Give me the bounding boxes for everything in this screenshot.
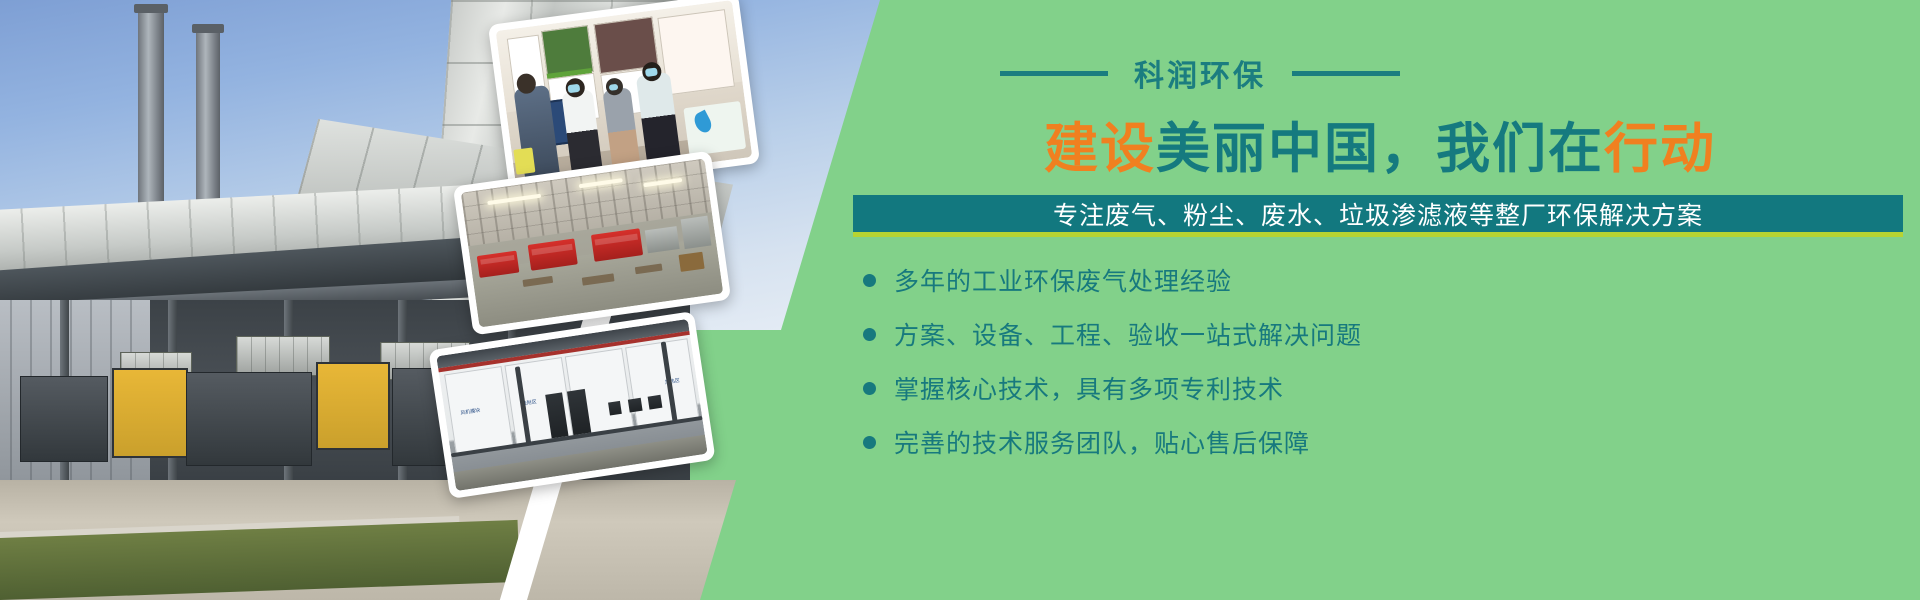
headline-part-4: 行动: [1604, 119, 1716, 179]
list-item-label: 方案、设备、工程、验收一站式解决问题: [894, 316, 1362, 352]
promo-banner: 风机模块 吸附区 加热区 科润环保 建设美丽中国，我们在行动 专注废气、粉尘、废…: [0, 0, 1920, 600]
bullet-dot-icon: [863, 328, 876, 341]
exhaust-stack-cap-2: [192, 24, 224, 33]
gray-machine: [681, 216, 712, 249]
bullet-dot-icon: [863, 382, 876, 395]
subtitle-text: 专注废气、粉尘、废水、垃圾渗滤液等整厂环保解决方案: [1053, 196, 1703, 232]
brand-rule-right: [1292, 71, 1400, 76]
dark-machine: [20, 376, 108, 462]
headline-part-1: 建设: [1044, 119, 1156, 179]
equipment-scene: 风机模块 吸附区 加热区: [436, 319, 707, 491]
face-mask: [645, 67, 658, 76]
equipment-vent: [648, 395, 663, 410]
list-item: 完善的技术服务团队，贴心售后保障: [855, 424, 1895, 460]
list-item: 方案、设备、工程、验收一站式解决问题: [855, 316, 1895, 352]
dark-machine: [186, 372, 312, 466]
water-drop-icon: [692, 109, 715, 134]
bullet-dot-icon: [863, 436, 876, 449]
yellow-machine: [112, 368, 188, 458]
exhaust-stack-cap-1: [134, 4, 168, 13]
subtitle-band: 专注废气、粉尘、废水、垃圾渗滤液等整厂环保解决方案: [853, 195, 1903, 237]
brand-row: 科润环保: [940, 52, 1460, 94]
equipment-vent: [608, 401, 623, 416]
list-item-label: 完善的技术服务团队，贴心售后保障: [894, 424, 1310, 460]
list-item-label: 多年的工业环保废气处理经验: [894, 262, 1232, 298]
company-logo-panel: [684, 101, 747, 155]
list-item: 多年的工业环保废气处理经验: [855, 262, 1895, 298]
headline-part-3: ，我们在: [1380, 119, 1604, 179]
yellow-machine: [316, 362, 390, 450]
bullet-dot-icon: [863, 274, 876, 287]
brand-title: 科润环保: [1134, 51, 1266, 95]
booth-scene: [496, 0, 753, 188]
banner-content: 科润环保 建设美丽中国，我们在行动 专注废气、粉尘、废水、垃圾渗滤液等整厂环保解…: [845, 0, 1920, 600]
headline-part-2: 美丽中国: [1156, 119, 1380, 179]
feature-list: 多年的工业环保废气处理经验 方案、设备、工程、验收一站式解决问题 掌握核心技术，…: [855, 262, 1895, 478]
list-item: 掌握核心技术，具有多项专利技术: [855, 370, 1895, 406]
workshop-scene: [461, 159, 724, 328]
brand-rule-left: [1000, 71, 1108, 76]
headline: 建设美丽中国，我们在行动: [855, 104, 1905, 183]
equipment-vent: [628, 398, 643, 413]
shopping-bag: [514, 147, 536, 175]
list-item-label: 掌握核心技术，具有多项专利技术: [894, 370, 1284, 406]
material-stack: [678, 252, 705, 272]
gray-machine: [645, 226, 680, 253]
